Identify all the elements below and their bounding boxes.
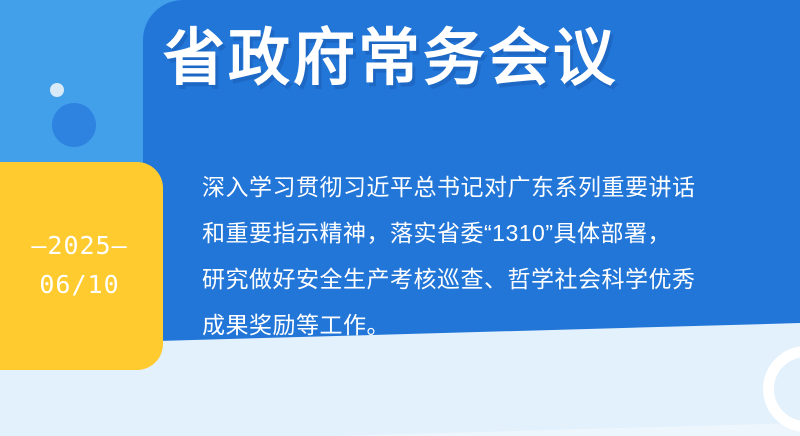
poster-body-text: 深入学习贯彻习近平总书记对广东系列重要讲话 和重要指示精神，落实省委“1310”… xyxy=(202,164,782,348)
body-line-2: 和重要指示精神，落实省委“1310”具体部署， xyxy=(202,210,782,256)
decorative-large-dot-icon xyxy=(52,103,96,147)
decorative-small-dot-icon xyxy=(50,83,64,97)
body-line-3: 研究做好安全生产考核巡查、哲学社会科学优秀 xyxy=(202,256,782,302)
date-day-label: 06/10 xyxy=(39,266,119,305)
date-card: —2025— 06/10 xyxy=(0,162,163,370)
poster-canvas: 省政府常务会议 深入学习贯彻习近平总书记对广东系列重要讲话 和重要指示精神，落实… xyxy=(0,0,800,436)
body-line-1: 深入学习贯彻习近平总书记对广东系列重要讲话 xyxy=(202,164,782,210)
date-year-label: —2025— xyxy=(31,227,127,266)
page-title: 省政府常务会议 xyxy=(163,20,618,98)
